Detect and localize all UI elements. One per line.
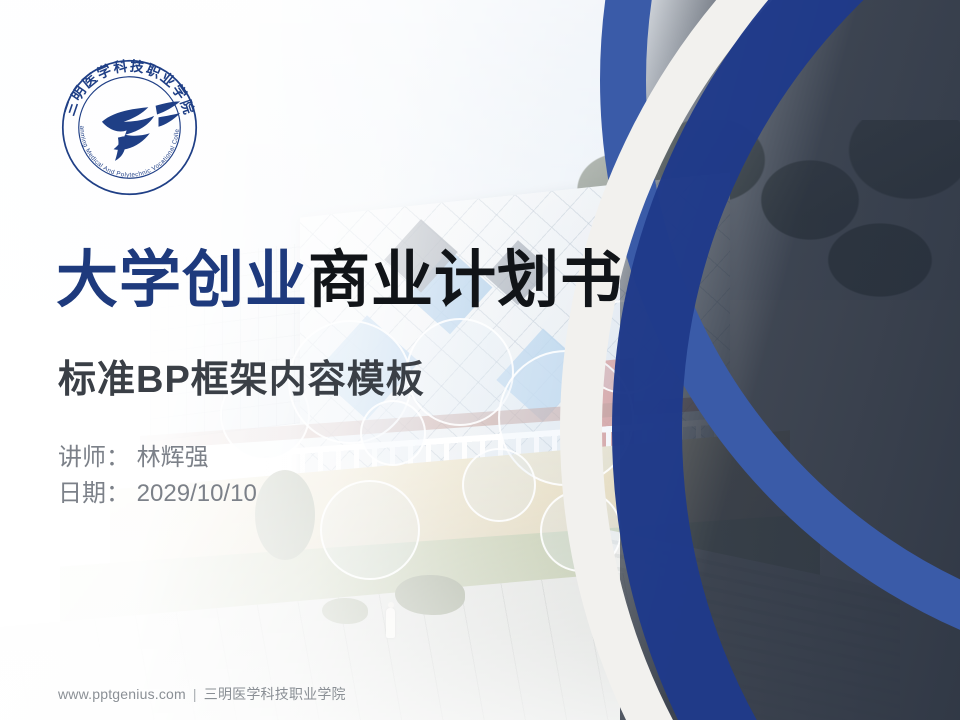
presenter-value: 林辉强 — [137, 444, 209, 471]
date-row: 日期： 2029/10/10 — [58, 476, 257, 512]
date-label: 日期： — [58, 480, 130, 507]
slide-subtitle: 标准BP框架内容模板 — [58, 348, 425, 403]
presenter-label: 讲师： — [58, 444, 130, 471]
college-logo: 三明医学科技职业学院 Sanming Medical And Polytechn… — [57, 55, 202, 200]
date-value: 2029/10/10 — [137, 480, 257, 507]
footer-separator: | — [193, 686, 197, 702]
slide-meta: 讲师： 林辉强 日期： 2029/10/10 — [58, 440, 257, 513]
presenter-row: 讲师： 林辉强 — [58, 440, 257, 476]
title-slide: 三明医学科技职业学院 Sanming Medical And Polytechn… — [0, 0, 960, 720]
footer-organization: 三明医学科技职业学院 — [204, 686, 346, 702]
college-seal-icon: 三明医学科技职业学院 Sanming Medical And Polytechn… — [57, 55, 202, 200]
title-blue-part: 大学创业 — [56, 246, 308, 315]
slide-title: 大学创业商业计划书 — [56, 248, 623, 315]
slide-footer: www.pptgenius.com|三明医学科技职业学院 — [58, 684, 346, 704]
title-dark-part: 商业计划书 — [308, 246, 623, 315]
footer-website[interactable]: www.pptgenius.com — [58, 686, 186, 702]
